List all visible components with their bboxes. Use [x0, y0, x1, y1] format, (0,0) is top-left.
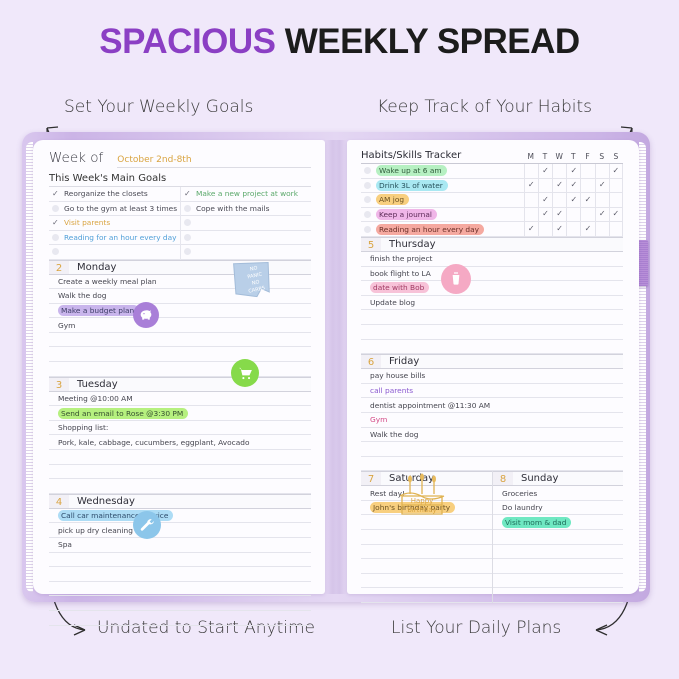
habits-rows: Wake up at 6 am✓✓✓Drink 3L of water✓✓✓✓A…: [361, 164, 623, 237]
habit-check-cell-5[interactable]: [595, 164, 609, 179]
habit-text: Wake up at 6 am: [376, 165, 447, 176]
goal-row[interactable]: [49, 245, 180, 260]
task-line[interactable]: call parents: [361, 384, 623, 399]
page-title-accent: SPACIOUS: [99, 22, 284, 61]
habit-check-cells: ✓✓✓: [524, 164, 623, 179]
habit-check-cell-3[interactable]: ✓: [566, 178, 580, 193]
check-icon[interactable]: ✓: [52, 190, 59, 198]
habit-label-cell: Keep a journal: [361, 209, 524, 220]
caption-top-left: Set Your Weekly Goals: [64, 97, 253, 117]
task-line[interactable]: Groceries: [493, 486, 623, 501]
habit-check-cell-1[interactable]: [538, 178, 552, 193]
habit-check-cell-2[interactable]: ✓: [552, 222, 566, 237]
task-text: Shopping list:: [58, 423, 108, 432]
habit-day-header-3: T: [566, 152, 580, 161]
task-text: call parents: [370, 386, 413, 395]
task-line[interactable]: [49, 450, 311, 465]
habit-check-cell-4[interactable]: [580, 164, 594, 179]
habit-check-cell-2[interactable]: [552, 193, 566, 208]
checkbox-empty[interactable]: [184, 234, 191, 241]
day-header: 6Friday: [361, 354, 623, 369]
task-line[interactable]: [493, 588, 623, 603]
right-day-blocks: 5Thursdayfinish the projectbook flight t…: [361, 237, 623, 471]
task-line[interactable]: book flight to LA: [361, 267, 623, 282]
goal-text: Make a new project at work: [196, 189, 298, 198]
habit-check-cell-4[interactable]: [580, 207, 594, 222]
habit-check-cells: ✓✓✓✓: [524, 207, 623, 222]
task-text: Gym: [58, 321, 75, 330]
task-text: pick up dry cleaning: [58, 526, 133, 535]
task-line[interactable]: [49, 479, 311, 494]
goal-text: Cope with the mails: [196, 204, 269, 213]
task-line[interactable]: Pork, kale, cabbage, cucumbers, eggplant…: [49, 435, 311, 450]
task-line[interactable]: [361, 588, 492, 603]
day-header: 5Thursday: [361, 237, 623, 252]
day-number: 7: [361, 472, 381, 485]
task-line[interactable]: [493, 574, 623, 589]
birthday-cake-icon: Happy birthday: [392, 462, 452, 518]
checkbox-empty[interactable]: [364, 196, 371, 203]
goal-row[interactable]: Go to the gym at least 3 times: [49, 202, 180, 217]
page-edge-right: [639, 142, 646, 592]
habit-check-cell-0[interactable]: [524, 193, 538, 208]
task-line[interactable]: [361, 559, 492, 574]
task-line[interactable]: [49, 596, 311, 611]
left-page: Week of October 2nd-8th This Week's Main…: [33, 140, 325, 594]
day-number: 6: [361, 355, 381, 368]
task-line[interactable]: Do laundry: [493, 501, 623, 516]
habit-day-header-5: S: [595, 152, 609, 161]
habit-day-header-0: M: [524, 152, 538, 161]
task-line[interactable]: [361, 310, 623, 325]
habit-label-cell: Wake up at 6 am: [361, 165, 524, 176]
task-line[interactable]: Spa: [49, 538, 311, 553]
habit-check-cell-5[interactable]: [595, 193, 609, 208]
task-text: Make a budget plan: [58, 305, 139, 316]
task-text: Send an email to Rose @3:30 PM: [58, 408, 188, 419]
task-line[interactable]: Walk the dog: [361, 428, 623, 443]
habit-row: Drink 3L of water✓✓✓✓: [361, 179, 623, 194]
week-of-value[interactable]: October 2nd-8th: [117, 155, 311, 168]
goal-text: Visit parents: [64, 218, 110, 227]
goal-text: Go to the gym at least 3 times: [64, 204, 177, 213]
task-line[interactable]: Meeting @10:00 AM: [49, 392, 311, 407]
week-of-row: Week of October 2nd-8th: [49, 150, 311, 170]
goal-text: Reorganize the closets: [64, 189, 148, 198]
task-text: Update blog: [370, 298, 415, 307]
task-text: pay house bills: [370, 371, 425, 380]
svg-text:birthday: birthday: [407, 506, 436, 514]
task-line[interactable]: [49, 582, 311, 597]
task-line[interactable]: [361, 442, 623, 457]
caption-top-right: Keep Track of Your Habits: [377, 97, 592, 117]
task-line[interactable]: [49, 362, 311, 377]
task-line[interactable]: [49, 347, 311, 362]
caption-bottom-right: List Your Daily Plans: [391, 618, 561, 638]
habit-check-cell-5[interactable]: ✓: [595, 207, 609, 222]
task-line[interactable]: Make a budget plan: [49, 304, 311, 319]
habit-row: Keep a journal✓✓✓✓: [361, 208, 623, 223]
goal-row[interactable]: [181, 231, 311, 246]
checkbox-empty[interactable]: [364, 182, 371, 189]
habit-row: AM jog✓✓✓: [361, 193, 623, 208]
checkbox-empty[interactable]: [184, 248, 191, 255]
goal-text: Reading for an hour every day: [64, 233, 177, 242]
habit-check-cell-6[interactable]: [609, 193, 623, 208]
task-text: Visit mom & dad: [502, 517, 571, 528]
task-line[interactable]: Gym: [361, 413, 623, 428]
task-line[interactable]: Send an email to Rose @3:30 PM: [49, 406, 311, 421]
habit-check-cell-6[interactable]: ✓: [609, 207, 623, 222]
task-text: Do laundry: [502, 503, 543, 512]
task-text: dentist appointment @11:30 AM: [370, 401, 490, 410]
task-line[interactable]: Gym: [49, 318, 311, 333]
habit-text: Drink 3L of water: [376, 180, 448, 191]
task-text: Walk the dog: [370, 430, 418, 439]
habit-check-cell-3[interactable]: [566, 222, 580, 237]
habit-check-cell-2[interactable]: [552, 164, 566, 179]
habit-check-cell-4[interactable]: ✓: [580, 193, 594, 208]
habit-label-cell: Reading an hour every day: [361, 224, 524, 235]
habit-label-cell: AM jog: [361, 194, 524, 205]
habit-row: Reading an hour every day✓✓✓: [361, 222, 623, 237]
day-name: Friday: [389, 356, 419, 367]
day-block: 8SundayGroceriesDo laundryVisit mom & da…: [493, 471, 623, 603]
habit-check-cells: ✓✓✓✓: [524, 178, 623, 193]
habits-tracker-header: Habits/Skills Tracker MTWTFSS: [361, 150, 623, 164]
task-text: Meeting @10:00 AM: [58, 394, 133, 403]
notebook: Week of October 2nd-8th This Week's Main…: [22, 132, 650, 602]
habit-text: Reading an hour every day: [376, 224, 484, 235]
goal-row[interactable]: ✓Reorganize the closets: [49, 187, 180, 202]
task-line[interactable]: [49, 333, 311, 348]
task-line[interactable]: pick up dry cleaning: [49, 523, 311, 538]
habit-check-cell-0[interactable]: [524, 207, 538, 222]
piggy-bank-icon: [133, 302, 159, 328]
goals-column-left: ✓Reorganize the closetsGo to the gym at …: [49, 187, 180, 260]
day-number: 4: [49, 495, 69, 508]
goal-row[interactable]: Cope with the mails: [181, 202, 311, 217]
day-name: Tuesday: [77, 379, 118, 390]
habit-check-cell-0[interactable]: ✓: [524, 178, 538, 193]
habit-check-cell-1[interactable]: ✓: [538, 164, 552, 179]
habit-check-cell-4[interactable]: [580, 178, 594, 193]
day-header: 4Wednesday: [49, 494, 311, 509]
goal-row[interactable]: Reading for an hour every day: [49, 231, 180, 246]
task-text: Groceries: [502, 489, 537, 498]
task-line[interactable]: [493, 559, 623, 574]
task-text: book flight to LA: [370, 269, 431, 278]
habit-day-header-4: F: [580, 152, 594, 161]
right-page: Habits/Skills Tracker MTWTFSS Wake up at…: [347, 140, 639, 594]
check-icon[interactable]: ✓: [184, 190, 191, 198]
habit-day-header-1: T: [538, 152, 552, 161]
checkbox-empty[interactable]: [52, 205, 59, 212]
goals-grid: ✓Reorganize the closetsGo to the gym at …: [49, 187, 311, 260]
arrow-bottom-right-head: [596, 625, 607, 635]
task-line[interactable]: [493, 530, 623, 545]
day-name: Wednesday: [77, 496, 135, 507]
day-name: Sunday: [521, 473, 558, 484]
wrench-icon: [133, 511, 161, 539]
task-text: Walk the dog: [58, 291, 106, 300]
goal-row[interactable]: ✓Visit parents: [49, 216, 180, 231]
task-line[interactable]: Visit mom & dad: [493, 515, 623, 530]
habit-check-cell-3[interactable]: ✓: [566, 193, 580, 208]
goals-section-title: This Week's Main Goals: [49, 170, 311, 187]
habit-check-cell-5[interactable]: [595, 222, 609, 237]
habit-day-header-6: S: [609, 152, 623, 161]
task-line[interactable]: pay house bills: [361, 369, 623, 384]
task-line[interactable]: [361, 340, 623, 355]
svg-text:Happy: Happy: [411, 497, 434, 505]
habits-title: Habits/Skills Tracker: [361, 150, 461, 161]
task-line[interactable]: [49, 465, 311, 480]
checkbox-empty[interactable]: [52, 234, 59, 241]
arrow-bottom-left-head: [74, 625, 85, 635]
habit-check-cell-6[interactable]: [609, 178, 623, 193]
page-title-main: WEEKLY SPREAD: [285, 22, 580, 61]
habit-label-cell: Drink 3L of water: [361, 180, 524, 191]
checkbox-empty[interactable]: [364, 226, 371, 233]
notebook-spine: [325, 140, 347, 594]
check-icon[interactable]: ✓: [52, 219, 59, 227]
goal-row[interactable]: ✓Make a new project at work: [181, 187, 311, 202]
day-number: 5: [361, 238, 381, 251]
task-line[interactable]: [361, 545, 492, 560]
task-line[interactable]: date with Bob: [361, 281, 623, 296]
checkbox-empty[interactable]: [364, 167, 371, 174]
task-text: date with Bob: [370, 282, 429, 293]
left-day-blocks: 2MondayCreate a weekly meal planWalk the…: [49, 260, 311, 626]
shopping-cart-icon: [231, 359, 259, 387]
day-number: 3: [49, 378, 69, 391]
habit-check-cell-6[interactable]: [609, 222, 623, 237]
task-line[interactable]: finish the project: [361, 252, 623, 267]
task-text: Create a weekly meal plan: [58, 277, 157, 286]
day-block: 6Fridaypay house billscall parentsdentis…: [361, 354, 623, 471]
habit-check-cell-1[interactable]: ✓: [538, 207, 552, 222]
habit-check-cell-2[interactable]: ✓: [552, 207, 566, 222]
task-line[interactable]: [361, 325, 623, 340]
checkbox-empty[interactable]: [364, 211, 371, 218]
habit-text: AM jog: [376, 194, 409, 205]
day-number: 8: [493, 472, 513, 485]
habit-check-cell-1[interactable]: [538, 222, 552, 237]
habit-check-cell-3[interactable]: [566, 207, 580, 222]
sunday-block: 8SundayGroceriesDo laundryVisit mom & da…: [492, 471, 623, 603]
habits-day-headers: MTWTFSS: [524, 152, 623, 161]
habit-day-header-2: W: [552, 152, 566, 161]
day-number: 2: [49, 261, 69, 274]
day-block: 3TuesdayMeeting @10:00 AMSend an email t…: [49, 377, 311, 494]
habit-check-cell-1[interactable]: ✓: [538, 193, 552, 208]
day-block: 4WednesdayCall car maintenance servicepi…: [49, 494, 311, 626]
day-name: Monday: [77, 262, 116, 273]
habit-check-cell-2[interactable]: ✓: [552, 178, 566, 193]
week-of-label: Week of: [49, 150, 103, 166]
task-line[interactable]: [361, 574, 492, 589]
task-line[interactable]: [49, 553, 311, 568]
habit-row: Wake up at 6 am✓✓✓: [361, 164, 623, 179]
checkbox-empty[interactable]: [52, 248, 59, 255]
habit-check-cell-0[interactable]: [524, 164, 538, 179]
page-edge-left: [26, 142, 33, 592]
goal-row[interactable]: [181, 216, 311, 231]
habit-check-cell-4[interactable]: ✓: [580, 222, 594, 237]
habit-check-cell-0[interactable]: ✓: [524, 222, 538, 237]
task-text: finish the project: [370, 254, 432, 263]
habit-text: Keep a journal: [376, 209, 437, 220]
habit-check-cell-5[interactable]: ✓: [595, 178, 609, 193]
habit-check-cell-6[interactable]: ✓: [609, 164, 623, 179]
checkbox-empty[interactable]: [184, 219, 191, 226]
day-header: 8Sunday: [493, 471, 623, 486]
habit-check-cells: ✓✓✓: [524, 222, 623, 237]
task-line[interactable]: [49, 611, 311, 626]
goals-column-right: ✓Make a new project at workCope with the…: [180, 187, 311, 260]
task-line[interactable]: Update blog: [361, 296, 623, 311]
task-line[interactable]: dentist appointment @11:30 AM: [361, 398, 623, 413]
page-title: SPACIOUS WEEKLY SPREAD: [0, 22, 679, 62]
task-line[interactable]: [493, 545, 623, 560]
task-text: Pork, kale, cabbage, cucumbers, eggplant…: [58, 438, 249, 447]
checkbox-empty[interactable]: [184, 205, 191, 212]
day-block: 5Thursdayfinish the projectbook flight t…: [361, 237, 623, 354]
task-line[interactable]: [49, 567, 311, 582]
task-text: Spa: [58, 540, 72, 549]
task-line[interactable]: Shopping list:: [49, 421, 311, 436]
habit-check-cells: ✓✓✓: [524, 193, 623, 208]
day-header: 3Tuesday: [49, 377, 311, 392]
drink-cup-icon: [441, 264, 471, 294]
task-line[interactable]: [361, 530, 492, 545]
task-text: Gym: [370, 415, 387, 424]
day-name: Thursday: [389, 239, 436, 250]
task-line[interactable]: Call car maintenance service: [49, 509, 311, 524]
habit-check-cell-3[interactable]: ✓: [566, 164, 580, 179]
sticky-note-no-panic-no-carbs: NO PANIC NO CARBS: [229, 254, 277, 302]
